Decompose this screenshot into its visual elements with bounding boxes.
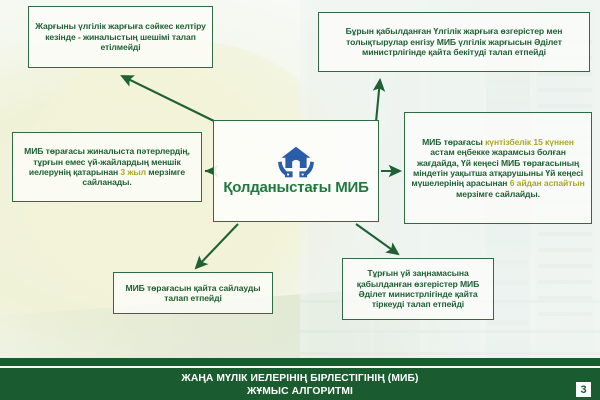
arrow-center-to-bottom-left [196,224,238,268]
flow-node-bottom-right: Тұрғын үй заңнамасына қабылданған өзгері… [342,258,494,320]
footer-bar: ЖАҢА МҮЛІК ИЕЛЕРІНІҢ БІРЛЕСТІГІНІҢ (МИБ)… [0,366,600,400]
flow-node-right: МИБ төрағасы күнтізбелік 15 күннен астам… [404,112,592,224]
flow-node-top-right: Бұрын қабылданған Үлгілік жарғыға өзгері… [318,12,590,72]
flow-node-top-left: Жарғыны үлгілік жарғыға сәйкес келтіру к… [28,6,213,68]
flow-node-center: Қолданыстағы МИБ [213,120,379,222]
flow-node-left-text: МИБ төрағасы жиналыста пәтерлердің, тұрғ… [17,146,197,188]
house-in-hands-icon [275,145,317,179]
arrow-center-to-top-left [122,76,216,122]
footer-title-line1: ЖАҢА МҮЛІК ИЕЛЕРІНІҢ БІРЛЕСТІГІНІҢ (МИБ) [181,372,418,385]
flow-node-bottom-left: МИБ төрағасын қайта сайлауды талап етпей… [113,272,273,314]
arrow-center-to-top-right-seg [376,80,380,122]
footer-title: ЖАҢА МҮЛІК ИЕЛЕРІНІҢ БІРЛЕСТІГІНІҢ (МИБ)… [181,368,418,398]
footer-title-line2: ЖҰМЫС АЛГОРИТМІ [181,385,418,398]
flow-node-left: МИБ төрағасы жиналыста пәтерлердің, тұрғ… [12,132,202,202]
footer-accent-strip [0,358,600,366]
center-node-label: Қолданыстағы МИБ [223,180,368,196]
flow-node-right-text: МИБ төрағасы күнтізбелік 15 күннен астам… [409,137,587,200]
page-number-badge: 3 [575,381,592,398]
slide-canvas: Жарғыны үлгілік жарғыға сәйкес келтіру к… [0,0,600,400]
arrow-center-to-bottom-right [356,224,398,254]
